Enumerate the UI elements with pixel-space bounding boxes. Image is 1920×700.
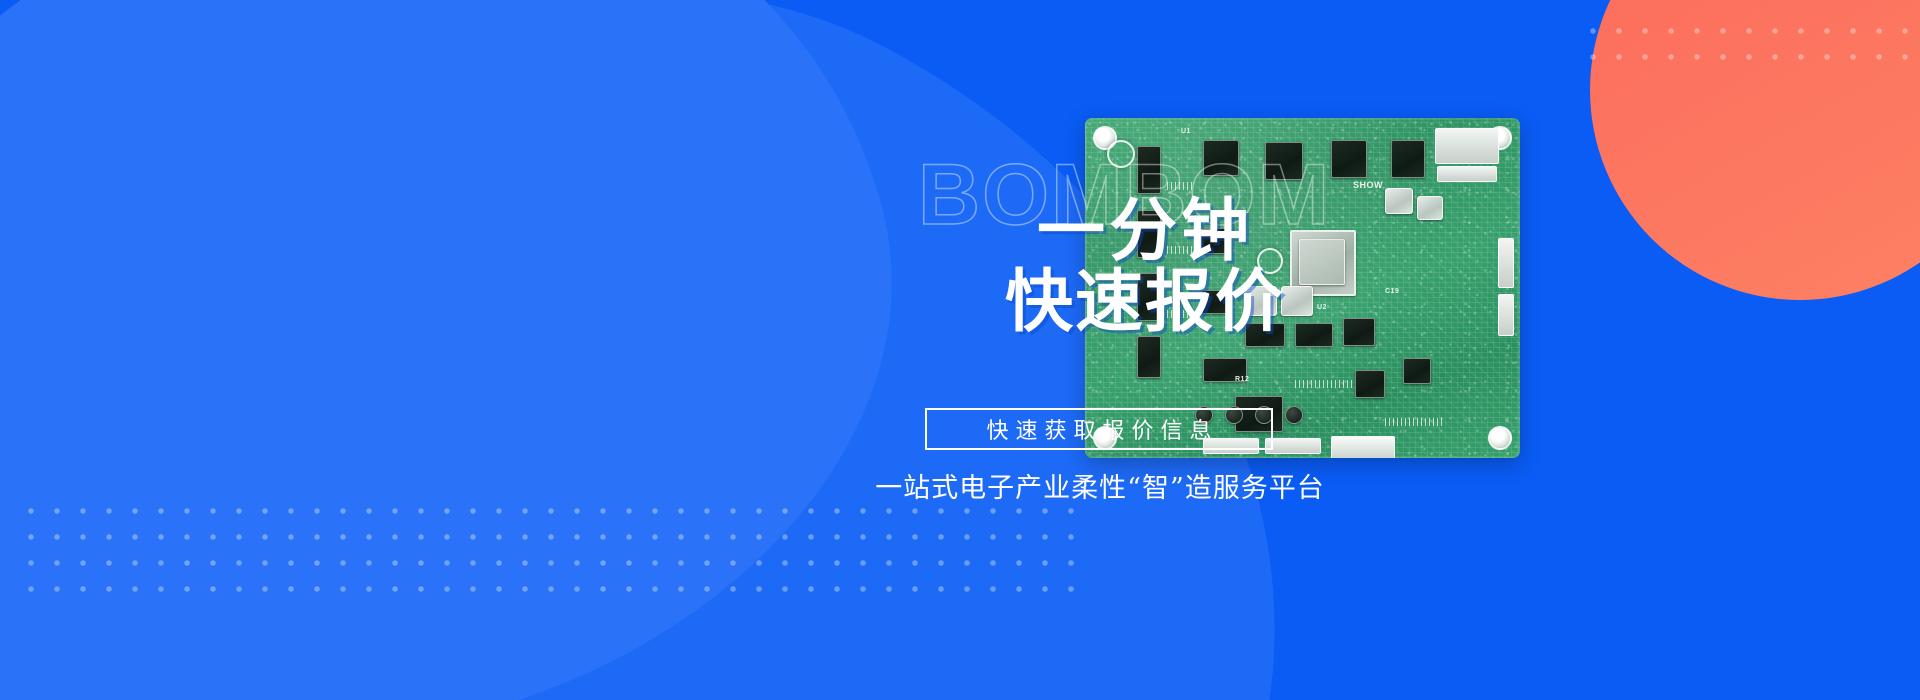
pin-header — [1295, 380, 1355, 388]
connector-port — [1498, 238, 1514, 288]
connector-port — [1331, 436, 1395, 458]
capacitor-pink-icon — [1107, 140, 1135, 168]
connector-port — [1435, 128, 1499, 164]
ic-chip — [1391, 140, 1425, 178]
mount-hole-icon — [1093, 426, 1117, 450]
connector-port — [1203, 438, 1259, 454]
promo-banner: SHOW U1 U2 C19 R12 BOMBOM 一分钟 快速报价 快速获取报… — [0, 0, 1920, 700]
pin-header — [1167, 182, 1195, 190]
ic-chip — [1245, 323, 1285, 347]
ic-chip — [1137, 336, 1161, 378]
capacitor-component — [1285, 406, 1303, 424]
ic-chip — [1137, 273, 1161, 321]
pin-header — [1167, 246, 1195, 254]
ic-chip — [1203, 140, 1239, 176]
capacitor-component — [1195, 406, 1213, 424]
capacitor-pink-icon — [1257, 248, 1283, 274]
ic-chip — [1137, 210, 1161, 258]
pcb-substrate: SHOW U1 U2 C19 R12 — [1085, 118, 1520, 458]
pin-header — [1385, 418, 1445, 426]
pcb-silkscreen-label: U1 — [1181, 128, 1191, 135]
ic-chip — [1137, 146, 1161, 194]
connector-port — [1498, 294, 1514, 336]
mount-hole-icon — [1488, 426, 1512, 450]
dot-grid-bottom-left — [18, 498, 1078, 606]
inductor-component — [1245, 286, 1277, 316]
pcb-silkscreen-label: C19 — [1385, 288, 1399, 295]
dot-grid-top-right — [1580, 18, 1920, 72]
pcb-silkscreen-label: U2 — [1317, 304, 1327, 311]
pcb-silkscreen-label: R12 — [1235, 376, 1249, 383]
ic-chip — [1201, 228, 1229, 254]
processor-die — [1299, 239, 1345, 285]
capacitor-component — [1255, 406, 1273, 424]
inductor-component — [1385, 188, 1413, 214]
pin-header — [1167, 310, 1195, 318]
ic-chip — [1343, 318, 1375, 346]
inductor-component — [1417, 196, 1443, 220]
ic-chip — [1331, 140, 1367, 178]
ic-chip — [1201, 290, 1227, 314]
ic-chip — [1265, 142, 1303, 180]
pcb-silkscreen-label: SHOW — [1353, 180, 1383, 190]
pcb-board-image: SHOW U1 U2 C19 R12 — [1085, 118, 1520, 458]
inductor-component — [1281, 286, 1313, 316]
connector-port — [1265, 438, 1321, 454]
ic-chip — [1355, 370, 1385, 398]
connector-port — [1437, 166, 1497, 182]
capacitor-component — [1225, 406, 1243, 424]
ic-chip — [1295, 323, 1333, 347]
background-decoration-layer — [0, 0, 1920, 700]
ic-chip — [1403, 358, 1431, 384]
